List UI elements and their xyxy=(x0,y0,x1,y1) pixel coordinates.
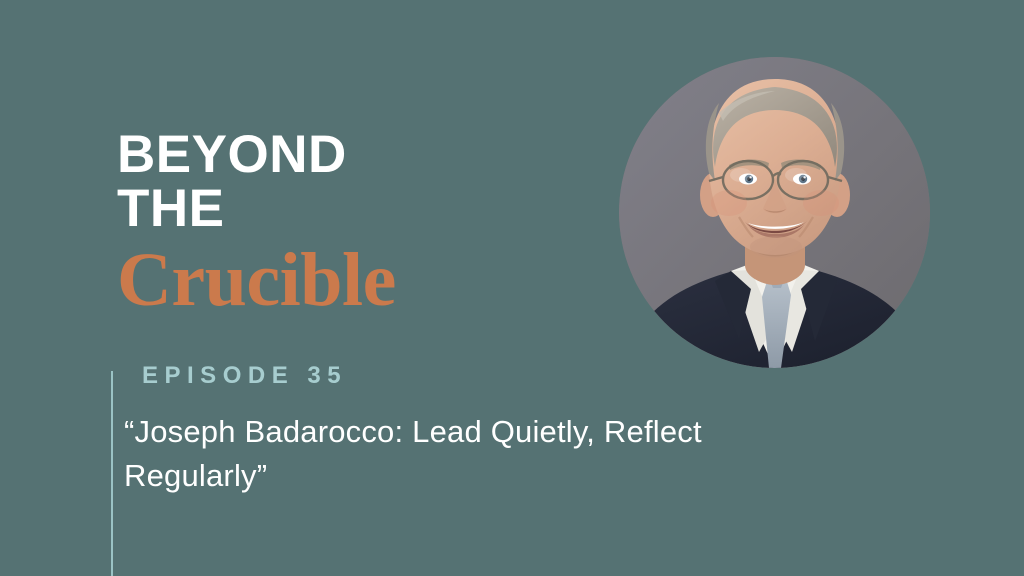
podcast-episode-card: BEYOND THE Crucible EPISODE 35 “Joseph B… xyxy=(0,0,1024,576)
guest-portrait-avatar xyxy=(619,57,930,368)
brand-line-the: THE xyxy=(117,182,597,236)
episode-info: EPISODE 35 “Joseph Badarocco: Lead Quiet… xyxy=(142,362,762,498)
episode-label: EPISODE 35 xyxy=(142,362,762,390)
episode-title: “Joseph Badarocco: Lead Quietly, Reflect… xyxy=(124,410,724,498)
brand-line-beyond: BEYOND xyxy=(117,128,597,182)
guest-portrait-illustration xyxy=(619,57,930,368)
brand-line-crucible: Crucible xyxy=(117,240,597,320)
brand-wordmark: BEYOND THE Crucible xyxy=(117,128,597,320)
vertical-accent-rule xyxy=(111,371,113,576)
